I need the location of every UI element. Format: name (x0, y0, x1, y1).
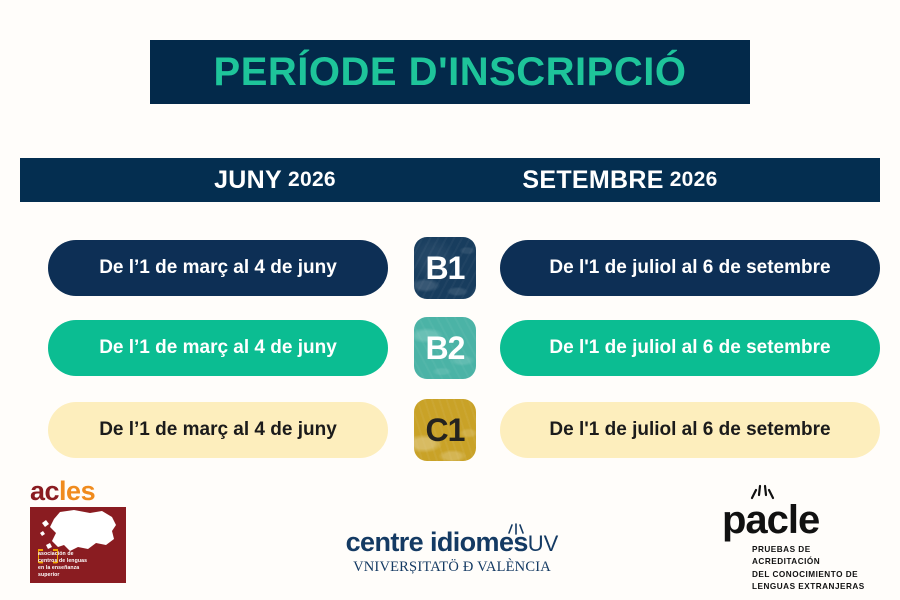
level-row-b2: De l’1 de març al 4 de juny B2 De l'1 de… (0, 316, 900, 380)
uv-university-name: VΝIVERȘITATÖ Đ VALÈNCIA (332, 559, 572, 576)
uv-wordmark-suffix: UV (528, 531, 559, 556)
period-pill-b2-setembre-label: De l'1 de juliol al 6 de setembre (549, 337, 830, 359)
acles-emblem-box: asociación de centros de lenguas en la e… (30, 507, 126, 583)
month-header-bar: JUNY 2026 SETEMBRE 2026 (20, 158, 880, 202)
pacle-tagline-line-1: PRUEBAS DE ACREDITACIÓN (752, 544, 872, 569)
period-pill-b2-juny: De l’1 de març al 4 de juny (48, 320, 388, 376)
column-header-setembre-year: 2026 (670, 168, 718, 192)
pacle-tagline-line-3: LENGUAS EXTRANJERAS (752, 581, 872, 593)
level-row-c1: De l’1 de març al 4 de juny C1 De l'1 de… (0, 398, 900, 462)
acles-tagline: asociación de centros de lenguas en la e… (38, 551, 118, 579)
period-pill-b2-juny-label: De l’1 de març al 4 de juny (99, 337, 337, 359)
level-badge-b1-label: B1 (426, 252, 465, 284)
period-pill-b1-juny: De l’1 de març al 4 de juny (48, 240, 388, 296)
period-pill-b1-setembre: De l'1 de juliol al 6 de setembre (500, 240, 880, 296)
level-row-b1: De l’1 de març al 4 de juny B1 De l'1 de… (0, 236, 900, 300)
period-pill-b1-setembre-label: De l'1 de juliol al 6 de setembre (549, 257, 830, 279)
pacle-tagline-line-2: DEL CONOCIMIENTO DE (752, 569, 872, 581)
sunburst-icon (750, 484, 776, 501)
period-pill-b1-juny-label: De l’1 de març al 4 de juny (99, 257, 337, 279)
acles-tagline-line-1: asociación de (38, 551, 118, 558)
pacle-wordmark: pacle (722, 500, 872, 540)
title-banner: PERÍODE D'INSCRIPCIÓ (150, 40, 750, 104)
sunburst-icon (506, 522, 526, 536)
level-badge-c1: C1 (414, 399, 476, 461)
uv-wordmark: centre idiomesUV (332, 528, 572, 556)
page-title: PERÍODE D'INSCRIPCIÓ (214, 52, 687, 92)
pacle-logo: pacle PRUEBAS DE ACREDITACIÓN DEL CONOCI… (722, 500, 872, 593)
level-badge-b1: B1 (414, 237, 476, 299)
acles-wordmark: acles (30, 478, 126, 505)
acles-tagline-line-4: superior (38, 572, 118, 579)
pacle-wordmark-label: pacle (722, 498, 819, 542)
pacle-tagline: PRUEBAS DE ACREDITACIÓN DEL CONOCIMIENTO… (752, 544, 872, 593)
period-pill-c1-setembre-label: De l'1 de juliol al 6 de setembre (549, 419, 830, 441)
acles-wordmark-ac: ac (30, 476, 59, 506)
period-pill-c1-juny: De l’1 de març al 4 de juny (48, 402, 388, 458)
column-header-setembre-month: SETEMBRE (522, 166, 663, 195)
level-badge-b2: B2 (414, 317, 476, 379)
uv-wordmark-main: centre idiomes (346, 527, 528, 557)
acles-tagline-line-3: en la enseñanza (38, 565, 118, 572)
column-header-juny-month: JUNY (214, 166, 282, 195)
level-badge-b2-label: B2 (426, 332, 465, 364)
acles-logo: acles asociación de centros de lenguas e… (30, 478, 126, 583)
column-header-juny-year: 2026 (288, 168, 336, 192)
level-badge-c1-label: C1 (426, 414, 465, 446)
period-pill-c1-juny-label: De l’1 de març al 4 de juny (99, 419, 337, 441)
column-header-juny: JUNY 2026 (150, 158, 400, 202)
column-header-setembre: SETEMBRE 2026 (460, 158, 780, 202)
period-pill-c1-setembre: De l'1 de juliol al 6 de setembre (500, 402, 880, 458)
acles-wordmark-les: les (59, 476, 95, 506)
period-pill-b2-setembre: De l'1 de juliol al 6 de setembre (500, 320, 880, 376)
uv-logo: centre idiomesUV VΝIVERȘITATÖ Đ VALÈNCIA (332, 528, 572, 576)
acles-tagline-line-2: centros de lenguas (38, 558, 118, 565)
